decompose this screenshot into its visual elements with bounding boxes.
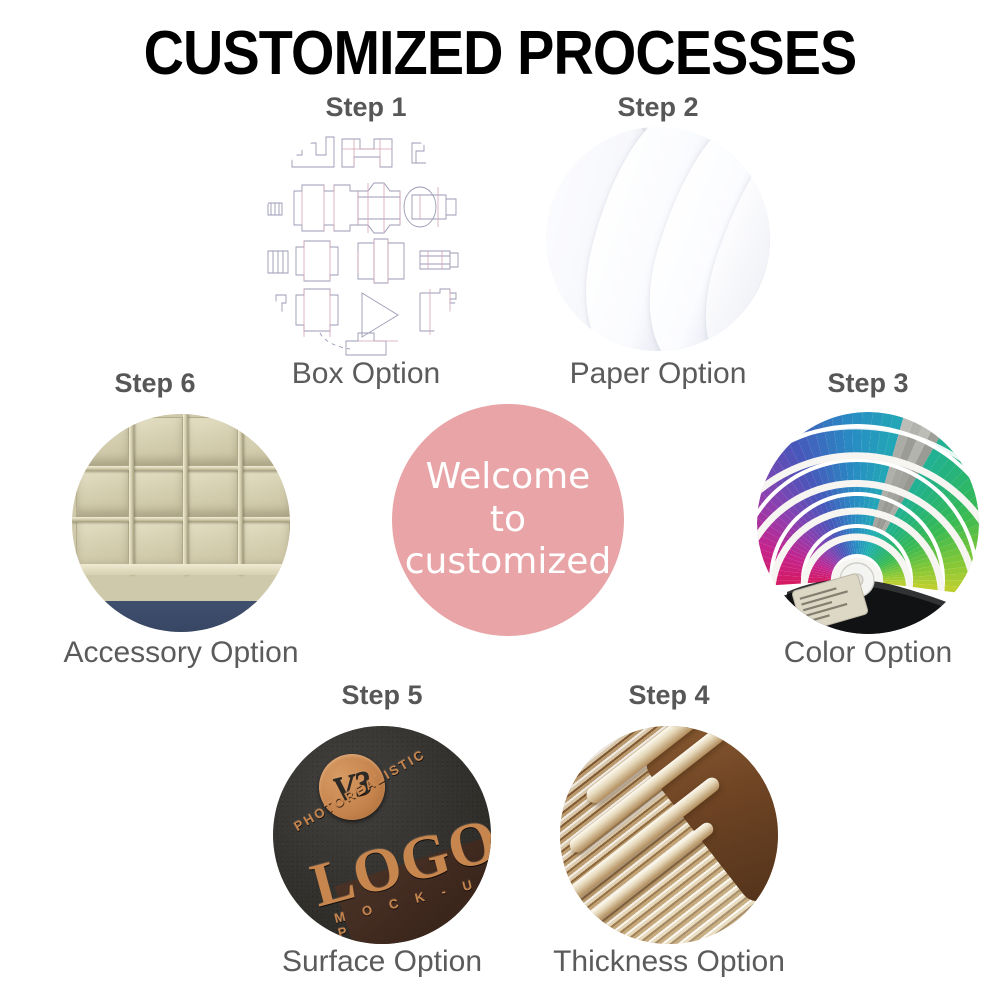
box-divider-vertical <box>183 414 188 575</box>
box-dielines-image <box>262 125 470 360</box>
box-cell <box>131 469 183 517</box>
step-4-option-label: Thickness Option <box>545 945 793 979</box>
corrugated-cardboard-image <box>560 726 778 944</box>
step-3-number-label: Step 3 <box>752 368 984 399</box>
box-divider-horizontal <box>72 517 290 522</box>
welcome-line-1: Welcome <box>426 456 591 498</box>
box-divider-horizontal <box>72 466 290 471</box>
step-5-number-label: Step 5 <box>258 680 506 711</box>
step-6-option-label: Accessory Option <box>20 636 342 670</box>
step-2-node: Step 2 Paper Option <box>535 92 781 397</box>
box-divider-vertical <box>238 414 243 575</box>
welcome-line-3: customized <box>405 541 611 583</box>
step-5-node: Step 5 V3 PHOTOREALISTIC LOGO M O C K - … <box>258 680 506 985</box>
step-4-number-label: Step 4 <box>545 680 793 711</box>
box-front-rim <box>72 564 290 575</box>
step-3-node: Step 3 <box>752 368 984 678</box>
step-1-number-label: Step 1 <box>230 92 502 123</box>
paper-sheets-image <box>546 127 770 351</box>
step-5-option-label: Surface Option <box>258 945 506 979</box>
color-fan-deck-image <box>757 412 979 634</box>
box-divider-grid <box>72 414 290 575</box>
divided-box-insert-image <box>72 414 290 632</box>
box-navy-backdrop <box>72 601 290 632</box>
page-title: CUSTOMIZED PROCESSES <box>50 18 950 89</box>
box-cell <box>76 417 128 465</box>
box-cell <box>240 469 290 517</box>
box-cell <box>185 469 237 517</box>
step-4-node: Step 4 Thickness Option <box>545 680 793 985</box>
box-divider-vertical <box>129 414 134 575</box>
welcome-line-2: to <box>490 499 526 541</box>
box-cell <box>131 417 183 465</box>
box-cell <box>240 417 290 465</box>
box-cell <box>76 469 128 517</box>
embossed-logo-image: V3 PHOTOREALISTIC LOGO M O C K - U P <box>273 726 491 944</box>
step-3-option-label: Color Option <box>752 636 984 670</box>
step-6-node: Step 6 <box>20 368 342 678</box>
box-cell <box>185 417 237 465</box>
infographic-canvas: CUSTOMIZED PROCESSES Step 1 <box>0 0 1000 1000</box>
box-dielines-svg <box>262 125 470 360</box>
step-6-number-label: Step 6 <box>20 368 290 399</box>
step-2-number-label: Step 2 <box>535 92 781 123</box>
color-fan-svg <box>757 412 979 634</box>
step-1-node: Step 1 <box>230 92 502 397</box>
step-2-option-label: Paper Option <box>535 357 781 391</box>
welcome-center-circle: Welcome to customized <box>392 404 624 636</box>
